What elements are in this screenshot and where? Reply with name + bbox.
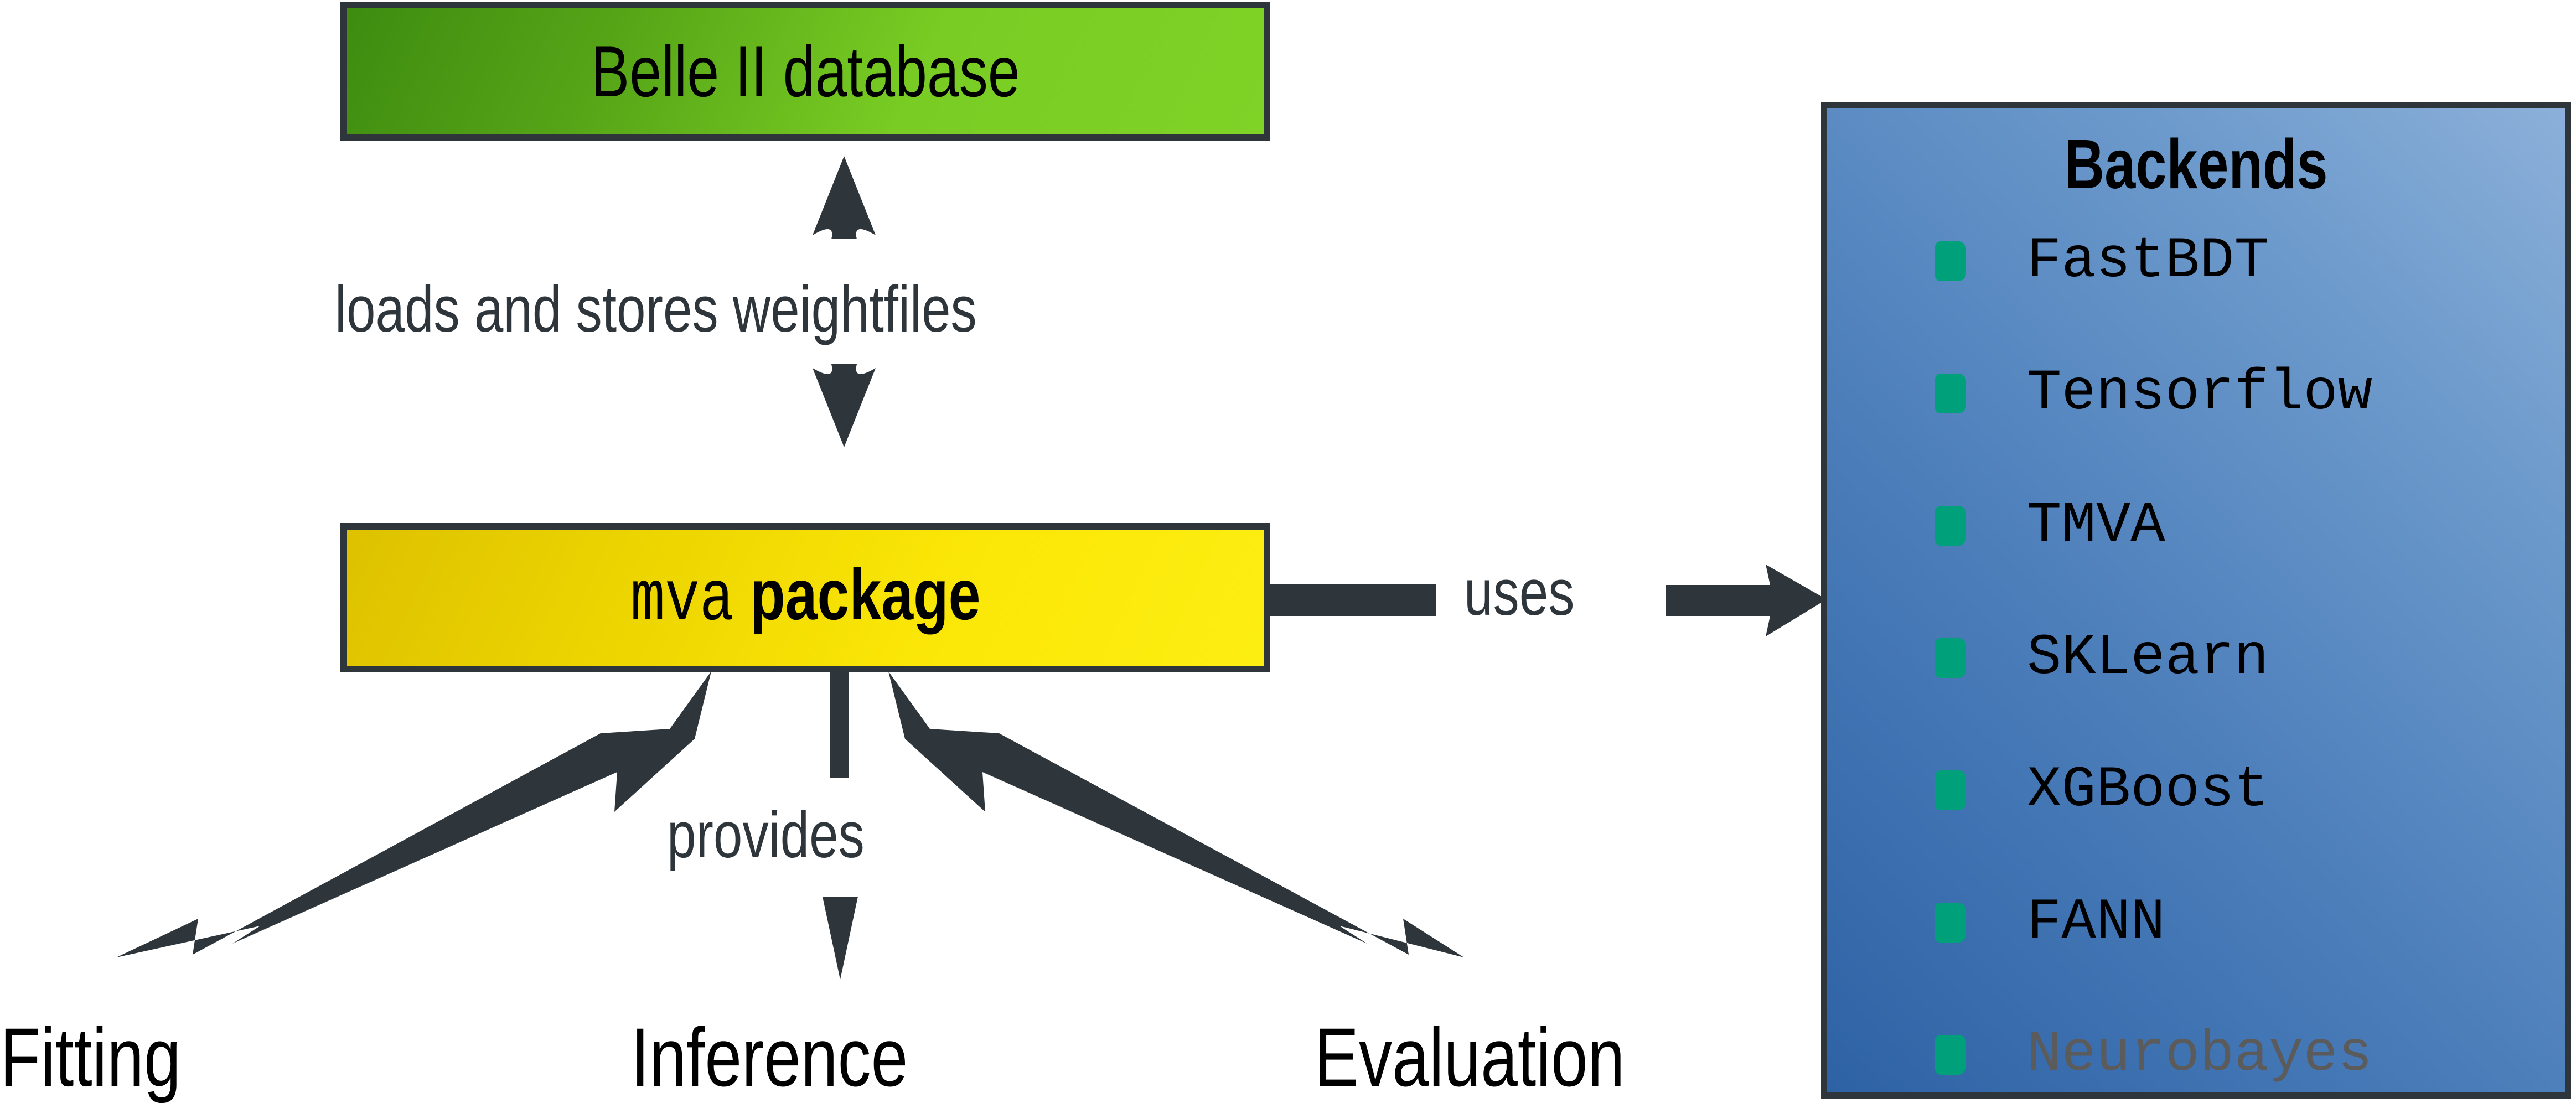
bullet-square-icon	[1935, 770, 1966, 810]
bullet-square-icon	[1935, 1035, 1966, 1075]
bullet-square-icon	[1935, 903, 1966, 943]
edge-label-provides: provides	[667, 802, 865, 868]
backend-item-label: FANN	[2027, 894, 2165, 951]
arrow-provides-evaluation	[880, 667, 1478, 966]
backend-item-label: Neurobayes	[2027, 1026, 2372, 1084]
arrow-uses-to-backends	[1666, 565, 1827, 636]
backends-panel: Backends FastBDTTensorflowTMVASKLearnXGB…	[1821, 102, 2571, 1099]
backend-item[interactable]: XGBoost	[1935, 757, 2269, 824]
belle2-database-label: Belle II database	[591, 35, 1020, 107]
backend-item[interactable]: FastBDT	[1935, 228, 2269, 294]
bullet-square-icon	[1935, 506, 1966, 546]
bullet-square-icon	[1935, 374, 1966, 413]
bullet-square-icon	[1935, 241, 1966, 281]
backend-item[interactable]: SKLearn	[1935, 625, 2269, 691]
backend-item-label: SKLearn	[2027, 629, 2269, 687]
backend-item-label: TMVA	[2027, 497, 2165, 555]
output-label-evaluation: Evaluation	[1315, 1016, 1625, 1099]
backend-item[interactable]: TMVA	[1935, 493, 2165, 559]
belle2-database-node: Belle II database	[340, 2, 1270, 141]
mva-package-node: mva package	[340, 523, 1270, 672]
backend-item-label: XGBoost	[2027, 762, 2269, 819]
arrow-down-to-mva	[792, 352, 897, 447]
bullet-square-icon	[1935, 638, 1966, 678]
output-label-fitting: Fitting	[0, 1016, 181, 1099]
backends-panel-title: Backends	[1901, 130, 2491, 199]
backend-item[interactable]: FANN	[1935, 889, 2165, 956]
edge-label-uses: uses	[1464, 560, 1574, 625]
mva-package-label-bold: package	[750, 554, 980, 635]
mva-package-label: mva package	[630, 558, 980, 637]
edge-label-weightfiles: loads and stores weightfiles	[335, 277, 977, 342]
arrow-up-to-database	[792, 156, 897, 250]
diagram-canvas: Belle II database loads and stores weigh…	[0, 0, 2576, 1103]
arrow-provides-fitting	[100, 667, 720, 966]
backend-item-label: Tensorflow	[2027, 365, 2372, 422]
backend-item[interactable]: Tensorflow	[1935, 360, 2372, 427]
output-label-inference: Inference	[631, 1016, 908, 1099]
mva-package-label-mono: mva	[630, 560, 734, 641]
backend-item[interactable]: Neurobayes	[1935, 1022, 2372, 1088]
uses-connector-stub	[1270, 584, 1436, 616]
backend-item-label: FastBDT	[2027, 232, 2269, 290]
